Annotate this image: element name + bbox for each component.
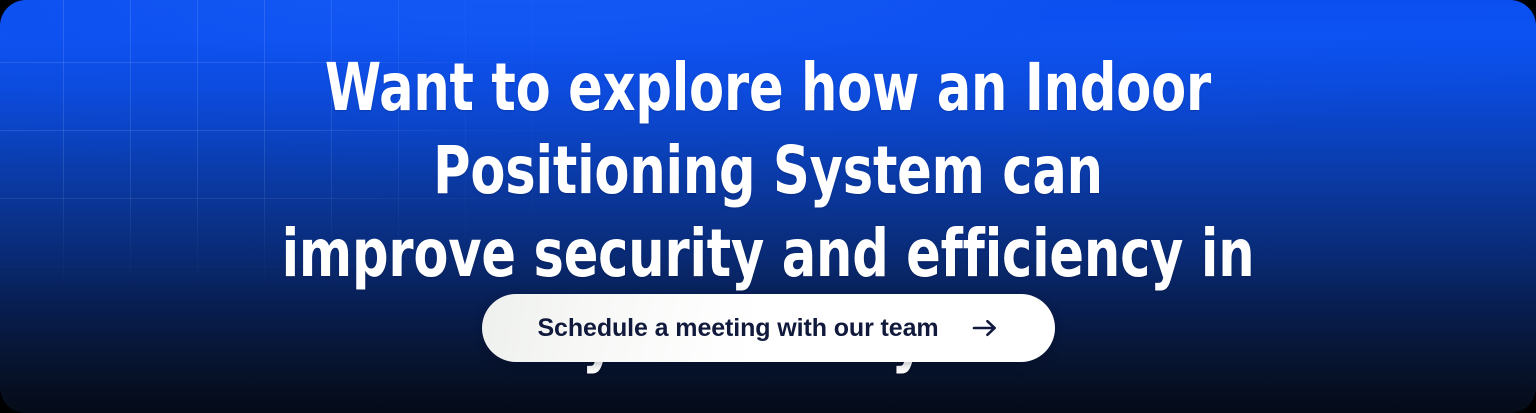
schedule-meeting-button-label: Schedule a meeting with our team — [537, 316, 938, 341]
schedule-meeting-button[interactable]: Schedule a meeting with our team — [482, 294, 1055, 362]
cta-banner: Want to explore how an Indoor Positionin… — [0, 0, 1536, 413]
banner-content: Want to explore how an Indoor Positionin… — [0, 0, 1536, 413]
cta-row: Schedule a meeting with our team — [0, 294, 1536, 362]
arrow-right-icon — [971, 315, 999, 341]
